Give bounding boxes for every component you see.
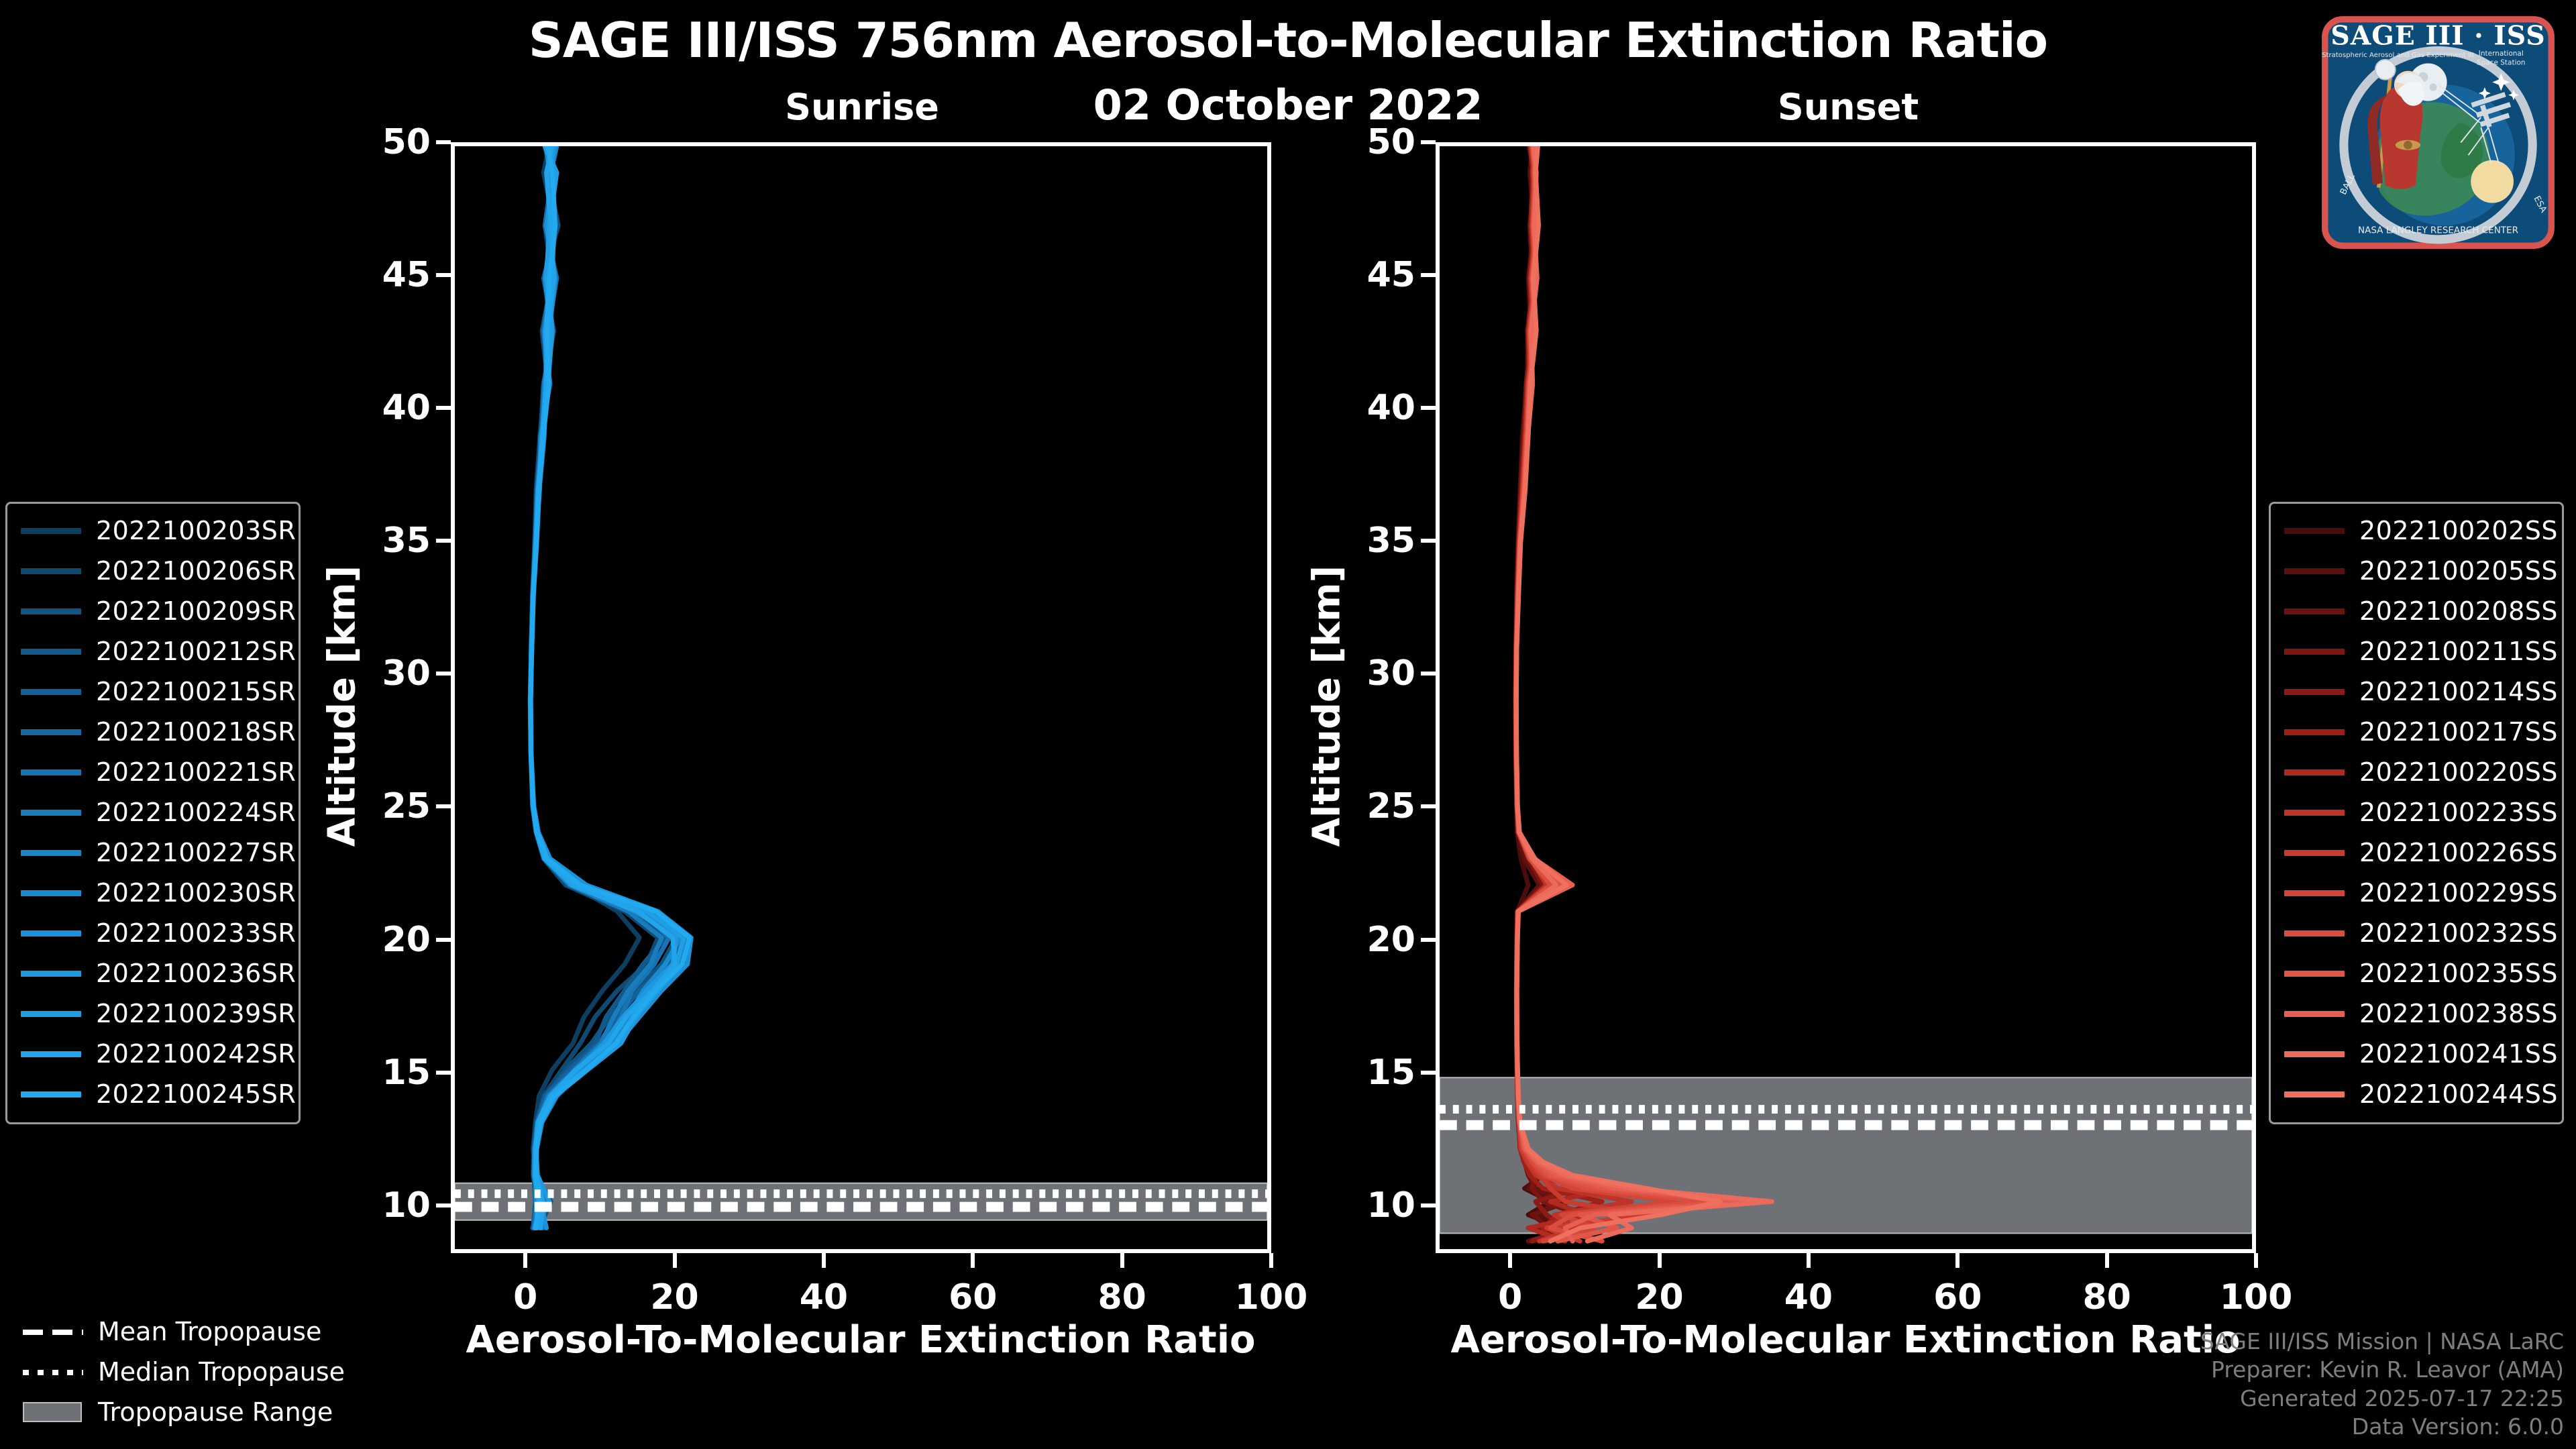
credit-generated: Generated 2025-07-17 22:25	[2200, 1385, 2564, 1413]
y-axis-tick-label: 35	[330, 521, 431, 561]
legend-item[interactable]: 2022100221SR	[17, 752, 289, 792]
y-axis-tick-mark	[436, 273, 451, 277]
legend-item-label: 2022100241SS	[2359, 1039, 2558, 1069]
legend-item[interactable]: 2022100236SR	[17, 953, 289, 994]
y-axis-tick-label: 35	[1315, 521, 1415, 561]
legend-item[interactable]: 2022100214SS	[2280, 672, 2553, 712]
dashed-line-icon	[23, 1320, 83, 1343]
legend-color-swatch-icon	[2284, 930, 2345, 936]
legend-item[interactable]: 2022100218SR	[17, 712, 289, 752]
legend-item[interactable]: 2022100224SR	[17, 792, 289, 833]
legend-color-swatch-icon	[2284, 1051, 2345, 1057]
y-axis-tick-label: 20	[1315, 920, 1415, 960]
x-axis-tick-label: 0	[1443, 1277, 1577, 1318]
legend-color-swatch-icon	[21, 1051, 81, 1057]
filled-band-icon	[23, 1401, 83, 1424]
sunrise-plot-panel	[451, 142, 1271, 1253]
y-axis-tick-mark	[1421, 539, 1436, 543]
sunset-panel-heading: Sunset	[1647, 86, 2049, 128]
svg-text:SAGE III · ISS: SAGE III · ISS	[2330, 20, 2545, 51]
y-axis-tick-label: 30	[330, 653, 431, 694]
x-axis-tick-label: 0	[458, 1277, 592, 1318]
legend-item-label: 2022100205SS	[2359, 556, 2558, 586]
legend-color-swatch-icon	[2284, 1011, 2345, 1017]
y-axis-tick-mark	[436, 1203, 451, 1207]
legend-item-label: 2022100230SR	[96, 878, 296, 908]
x-axis-tick-label: 60	[1890, 1277, 2025, 1318]
y-axis-tick-label: 15	[1315, 1053, 1415, 1093]
legend-item[interactable]: 2022100202SS	[2280, 511, 2553, 551]
legend-color-swatch-icon	[2284, 649, 2345, 655]
x-axis-tick-label: 100	[1204, 1277, 1338, 1318]
x-axis-tick-label: 20	[608, 1277, 742, 1318]
y-axis-tick-label: 20	[330, 920, 431, 960]
legend-item[interactable]: 2022100235SS	[2280, 953, 2553, 994]
y-axis-tick-label: 10	[1315, 1185, 1415, 1226]
legend-item-label: 2022100242SR	[96, 1039, 296, 1069]
legend-item-label: 2022100209SR	[96, 596, 296, 626]
credits-block: SAGE III/ISS Mission | NASA LaRC Prepare…	[2200, 1328, 2564, 1441]
legend-label-median-tropopause: Median Tropopause	[98, 1357, 345, 1387]
svg-text:International: International	[2479, 50, 2524, 58]
x-axis-tick-label: 80	[2040, 1277, 2174, 1318]
x-axis-tick-label: 20	[1593, 1277, 1727, 1318]
legend-item-label: 2022100226SS	[2359, 838, 2558, 867]
y-axis-tick-mark	[1421, 140, 1436, 144]
y-axis-tick-label: 45	[1315, 255, 1415, 295]
legend-item-label: 2022100232SS	[2359, 918, 2558, 948]
legend-item-label: 2022100202SS	[2359, 516, 2558, 545]
legend-color-swatch-icon	[21, 971, 81, 977]
y-axis-tick-mark	[436, 672, 451, 676]
x-axis-tick-label: 60	[906, 1277, 1040, 1318]
legend-item-label: 2022100238SS	[2359, 999, 2558, 1028]
legend-item[interactable]: 2022100217SS	[2280, 712, 2553, 752]
legend-item[interactable]: 2022100245SR	[17, 1074, 289, 1114]
legend-item-label: 2022100217SS	[2359, 717, 2558, 747]
x-axis-tick-mark	[822, 1253, 826, 1268]
y-axis-tick-mark	[436, 539, 451, 543]
credit-mission: SAGE III/ISS Mission | NASA LaRC	[2200, 1328, 2564, 1356]
legend-color-swatch-icon	[21, 1011, 81, 1017]
svg-text:Stratospheric Aerosol and Gas: Stratospheric Aerosol and Gas Experiment…	[2322, 52, 2474, 59]
legend-color-swatch-icon	[21, 1091, 81, 1097]
legend-color-swatch-icon	[21, 930, 81, 936]
legend-item-mean-tropopause: Mean Tropopause	[19, 1311, 394, 1352]
tropopause-range-band	[455, 1183, 1267, 1220]
legend-item[interactable]: 2022100220SS	[2280, 752, 2553, 792]
legend-color-swatch-icon	[21, 890, 81, 896]
y-axis-tick-mark	[1421, 804, 1436, 808]
legend-color-swatch-icon	[21, 568, 81, 574]
legend-item[interactable]: 2022100205SS	[2280, 551, 2553, 591]
legend-item[interactable]: 2022100203SR	[17, 511, 289, 551]
sunset-x-axis-title: Aerosol-To-Molecular Extinction Ratio	[1376, 1318, 2315, 1362]
legend-item-tropopause-range: Tropopause Range	[19, 1392, 394, 1432]
dotted-line-icon	[23, 1360, 83, 1383]
legend-color-swatch-icon	[21, 810, 81, 816]
legend-item[interactable]: 2022100208SS	[2280, 591, 2553, 631]
y-axis-tick-label: 50	[1315, 122, 1415, 162]
legend-item-label: 2022100208SS	[2359, 596, 2558, 626]
legend-item-median-tropopause: Median Tropopause	[19, 1352, 394, 1392]
x-axis-tick-label: 80	[1055, 1277, 1189, 1318]
y-axis-tick-mark	[436, 1071, 451, 1075]
x-axis-tick-mark	[1508, 1253, 1512, 1268]
legend-item-label: 2022100211SS	[2359, 637, 2558, 666]
credit-preparer: Preparer: Kevin R. Leavor (AMA)	[2200, 1356, 2564, 1384]
x-axis-tick-label: 40	[757, 1277, 891, 1318]
x-axis-tick-mark	[971, 1253, 975, 1268]
legend-item[interactable]: 2022100230SR	[17, 873, 289, 913]
y-axis-tick-label: 25	[1315, 786, 1415, 826]
x-axis-tick-mark	[1955, 1253, 1960, 1268]
y-axis-tick-label: 25	[330, 786, 431, 826]
y-axis-tick-label: 40	[330, 388, 431, 428]
legend-item-label: 2022100239SR	[96, 999, 296, 1028]
y-axis-tick-label: 10	[330, 1185, 431, 1226]
x-axis-tick-label: 40	[1741, 1277, 1876, 1318]
sunrise-x-axis-title: Aerosol-To-Molecular Extinction Ratio	[391, 1318, 1330, 1362]
legend-color-swatch-icon	[2284, 528, 2345, 534]
y-axis-tick-mark	[436, 938, 451, 942]
x-axis-tick-mark	[673, 1253, 677, 1268]
y-axis-tick-mark	[1421, 938, 1436, 942]
legend-item-label: 2022100221SR	[96, 757, 296, 787]
legend-color-swatch-icon	[2284, 568, 2345, 574]
legend-item-label: 2022100224SR	[96, 798, 296, 827]
legend-label-mean-tropopause: Mean Tropopause	[98, 1317, 321, 1346]
legend-color-swatch-icon	[21, 769, 81, 775]
y-axis-tick-mark	[436, 140, 451, 144]
legend-color-swatch-icon	[21, 608, 81, 614]
legend-item[interactable]: 2022100238SS	[2280, 994, 2553, 1034]
legend-color-swatch-icon	[2284, 1091, 2345, 1097]
profile-line	[531, 146, 675, 1228]
y-axis-tick-mark	[1421, 273, 1436, 277]
y-axis-tick-mark	[1421, 672, 1436, 676]
sunset-event-legend[interactable]: 2022100202SS2022100205SS2022100208SS2022…	[2269, 502, 2564, 1124]
legend-color-swatch-icon	[2284, 971, 2345, 977]
y-axis-tick-mark	[436, 406, 451, 410]
legend-item[interactable]: 2022100239SR	[17, 994, 289, 1034]
legend-color-swatch-icon	[2284, 608, 2345, 614]
legend-item-label: 2022100245SR	[96, 1079, 296, 1109]
y-axis-tick-mark	[1421, 1203, 1436, 1207]
legend-item[interactable]: 2022100223SS	[2280, 792, 2553, 833]
y-axis-tick-label: 45	[330, 255, 431, 295]
legend-item[interactable]: 2022100233SR	[17, 913, 289, 953]
legend-item-label: 2022100233SR	[96, 918, 296, 948]
y-axis-tick-mark	[1421, 1071, 1436, 1075]
sage3-iss-mission-patch-logo: NASA LANGLEY RESEARCH CENTER BALL ESA SA…	[2312, 7, 2564, 258]
legend-item[interactable]: 2022100241SS	[2280, 1034, 2553, 1074]
legend-item-label: 2022100223SS	[2359, 798, 2558, 827]
x-axis-tick-mark	[1269, 1253, 1273, 1268]
legend-color-swatch-icon	[2284, 890, 2345, 896]
legend-item-label: 2022100229SS	[2359, 878, 2558, 908]
legend-item[interactable]: 2022100206SR	[17, 551, 289, 591]
legend-color-swatch-icon	[2284, 850, 2345, 856]
credit-data-version: Data Version: 6.0.0	[2200, 1413, 2564, 1441]
legend-item-label: 2022100206SR	[96, 556, 296, 586]
svg-text:NASA LANGLEY RESEARCH CENTER: NASA LANGLEY RESEARCH CENTER	[2358, 225, 2518, 236]
sunrise-event-legend[interactable]: 2022100203SR2022100206SR2022100209SR2022…	[5, 502, 301, 1124]
legend-item[interactable]: 2022100232SS	[2280, 913, 2553, 953]
x-axis-tick-mark	[1658, 1253, 1662, 1268]
y-axis-tick-label: 40	[1315, 388, 1415, 428]
tropopause-legend: Mean Tropopause Median Tropopause Tropop…	[19, 1311, 394, 1432]
legend-color-swatch-icon	[21, 528, 81, 534]
legend-color-swatch-icon	[2284, 810, 2345, 816]
legend-item-label: 2022100236SR	[96, 959, 296, 988]
y-axis-tick-label: 15	[330, 1053, 431, 1093]
sunset-plot-canvas	[1440, 146, 2252, 1249]
legend-item-label: 2022100215SR	[96, 677, 296, 706]
legend-color-swatch-icon	[2284, 689, 2345, 695]
legend-item[interactable]: 2022100244SS	[2280, 1074, 2553, 1114]
legend-item-label: 2022100227SR	[96, 838, 296, 867]
legend-color-swatch-icon	[2284, 729, 2345, 735]
legend-item-label: 2022100244SS	[2359, 1079, 2558, 1109]
legend-item[interactable]: 2022100209SR	[17, 591, 289, 631]
legend-item[interactable]: 2022100215SR	[17, 672, 289, 712]
legend-item-label: 2022100218SR	[96, 717, 296, 747]
legend-item-label: 2022100235SS	[2359, 959, 2558, 988]
legend-item-label: 2022100220SS	[2359, 757, 2558, 787]
legend-color-swatch-icon	[21, 649, 81, 655]
x-axis-tick-mark	[523, 1253, 527, 1268]
legend-item-label: 2022100203SR	[96, 516, 296, 545]
legend-item-label: 2022100214SS	[2359, 677, 2558, 706]
legend-color-swatch-icon	[21, 850, 81, 856]
y-axis-tick-label: 50	[330, 122, 431, 162]
legend-item[interactable]: 2022100229SS	[2280, 873, 2553, 913]
x-axis-tick-label: 100	[2189, 1277, 2323, 1318]
sunset-plot-panel	[1436, 142, 2256, 1253]
legend-item[interactable]: 2022100242SR	[17, 1034, 289, 1074]
x-axis-tick-mark	[2254, 1253, 2258, 1268]
legend-color-swatch-icon	[2284, 769, 2345, 775]
legend-item[interactable]: 2022100226SS	[2280, 833, 2553, 873]
legend-item[interactable]: 2022100227SR	[17, 833, 289, 873]
svg-text:Space Station: Space Station	[2477, 58, 2526, 66]
y-axis-tick-mark	[1421, 406, 1436, 410]
y-axis-tick-mark	[436, 804, 451, 808]
sunrise-panel-heading: Sunrise	[661, 86, 1063, 128]
legend-color-swatch-icon	[21, 729, 81, 735]
legend-item[interactable]: 2022100211SS	[2280, 631, 2553, 672]
x-axis-tick-mark	[1120, 1253, 1124, 1268]
x-axis-tick-mark	[2105, 1253, 2109, 1268]
sunrise-plot-canvas	[455, 146, 1267, 1249]
page-title: SAGE III/ISS 756nm Aerosol-to-Molecular …	[0, 12, 2576, 68]
legend-color-swatch-icon	[21, 689, 81, 695]
legend-item[interactable]: 2022100212SR	[17, 631, 289, 672]
x-axis-tick-mark	[1807, 1253, 1811, 1268]
legend-item-label: 2022100212SR	[96, 637, 296, 666]
y-axis-tick-label: 30	[1315, 653, 1415, 694]
legend-label-tropopause-range: Tropopause Range	[98, 1397, 333, 1427]
